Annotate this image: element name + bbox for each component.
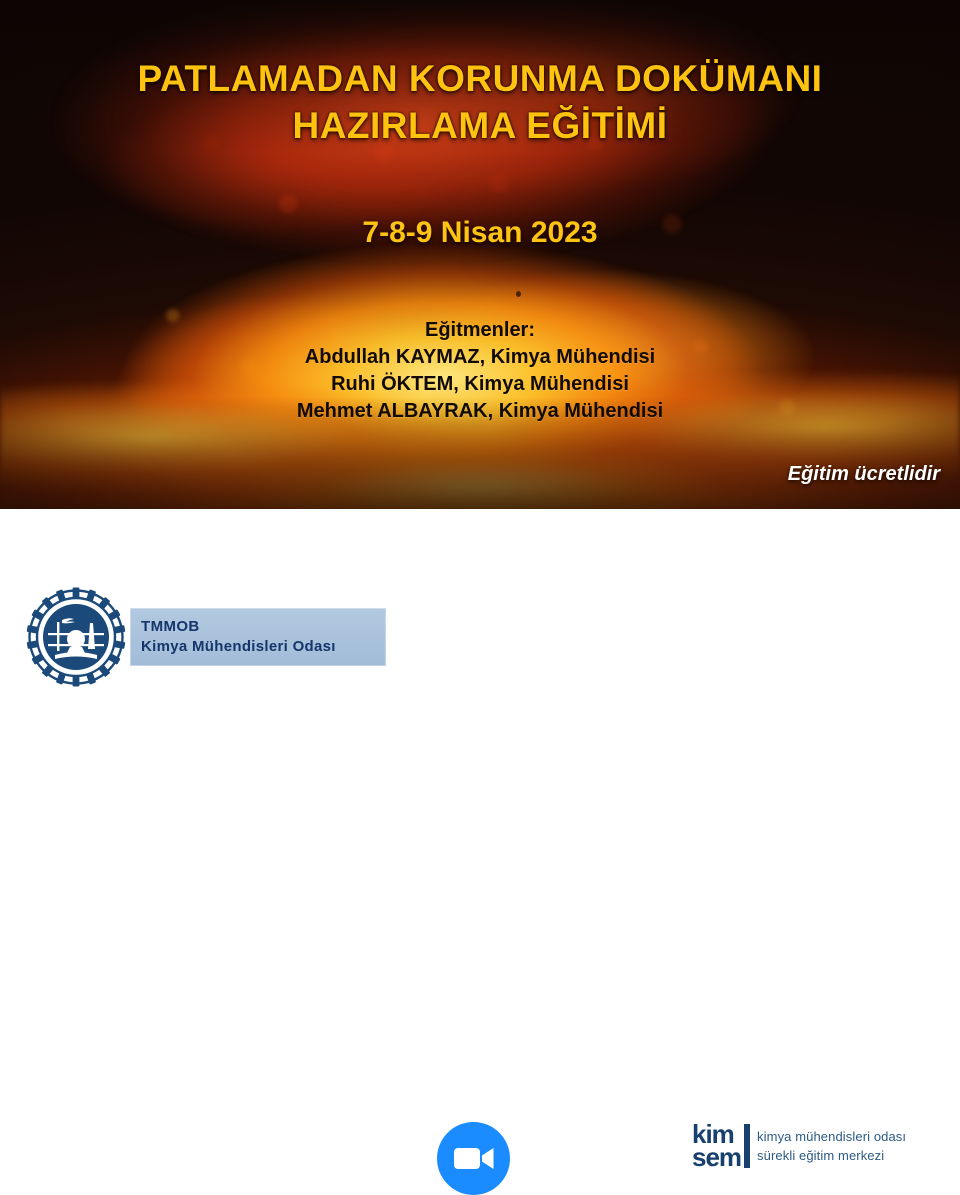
trainers-list: Eğitmenler: Abdullah KAYMAZ, Kimya Mühen… [0,317,960,425]
page-title: PATLAMADAN KORUNMA DOKÜMANI HAZIRLAMA EĞ… [0,55,960,149]
tmmob-line-1: TMMOB [141,617,386,637]
fee-note: Eğitim ücretlidir [788,463,940,486]
zoom-video-icon[interactable] [437,1122,510,1195]
kimsem-divider-bar [744,1124,750,1168]
kimsem-mark-line-1: kim [692,1123,741,1146]
kimsem-subtitle: kimya mühendisleri odası sürekli eğitim … [757,1127,906,1165]
kimsem-mark-line-2: sem [692,1146,741,1169]
tmmob-gear-icon [26,587,126,687]
dot-artifact [516,291,521,297]
kimsem-logo-block: kim sem kimya mühendisleri odası sürekli… [692,1123,906,1169]
explosion-background-image: PATLAMADAN KORUNMA DOKÜMANI HAZIRLAMA EĞ… [0,0,960,509]
tmmob-name-box: TMMOB Kimya Mühendisleri Odası [130,608,386,666]
presentation-slide: PATLAMADAN KORUNMA DOKÜMANI HAZIRLAMA EĞ… [0,0,960,720]
tmmob-line-2: Kimya Mühendisleri Odası [141,637,386,657]
tmmob-logo-block: TMMOB Kimya Mühendisleri Odası [26,587,386,687]
logo-footer: TMMOB Kimya Mühendisleri Odası kim sem k… [0,509,960,720]
kimsem-wordmark: kim sem [692,1123,741,1169]
event-date: 7-8-9 Nisan 2023 [0,216,960,250]
